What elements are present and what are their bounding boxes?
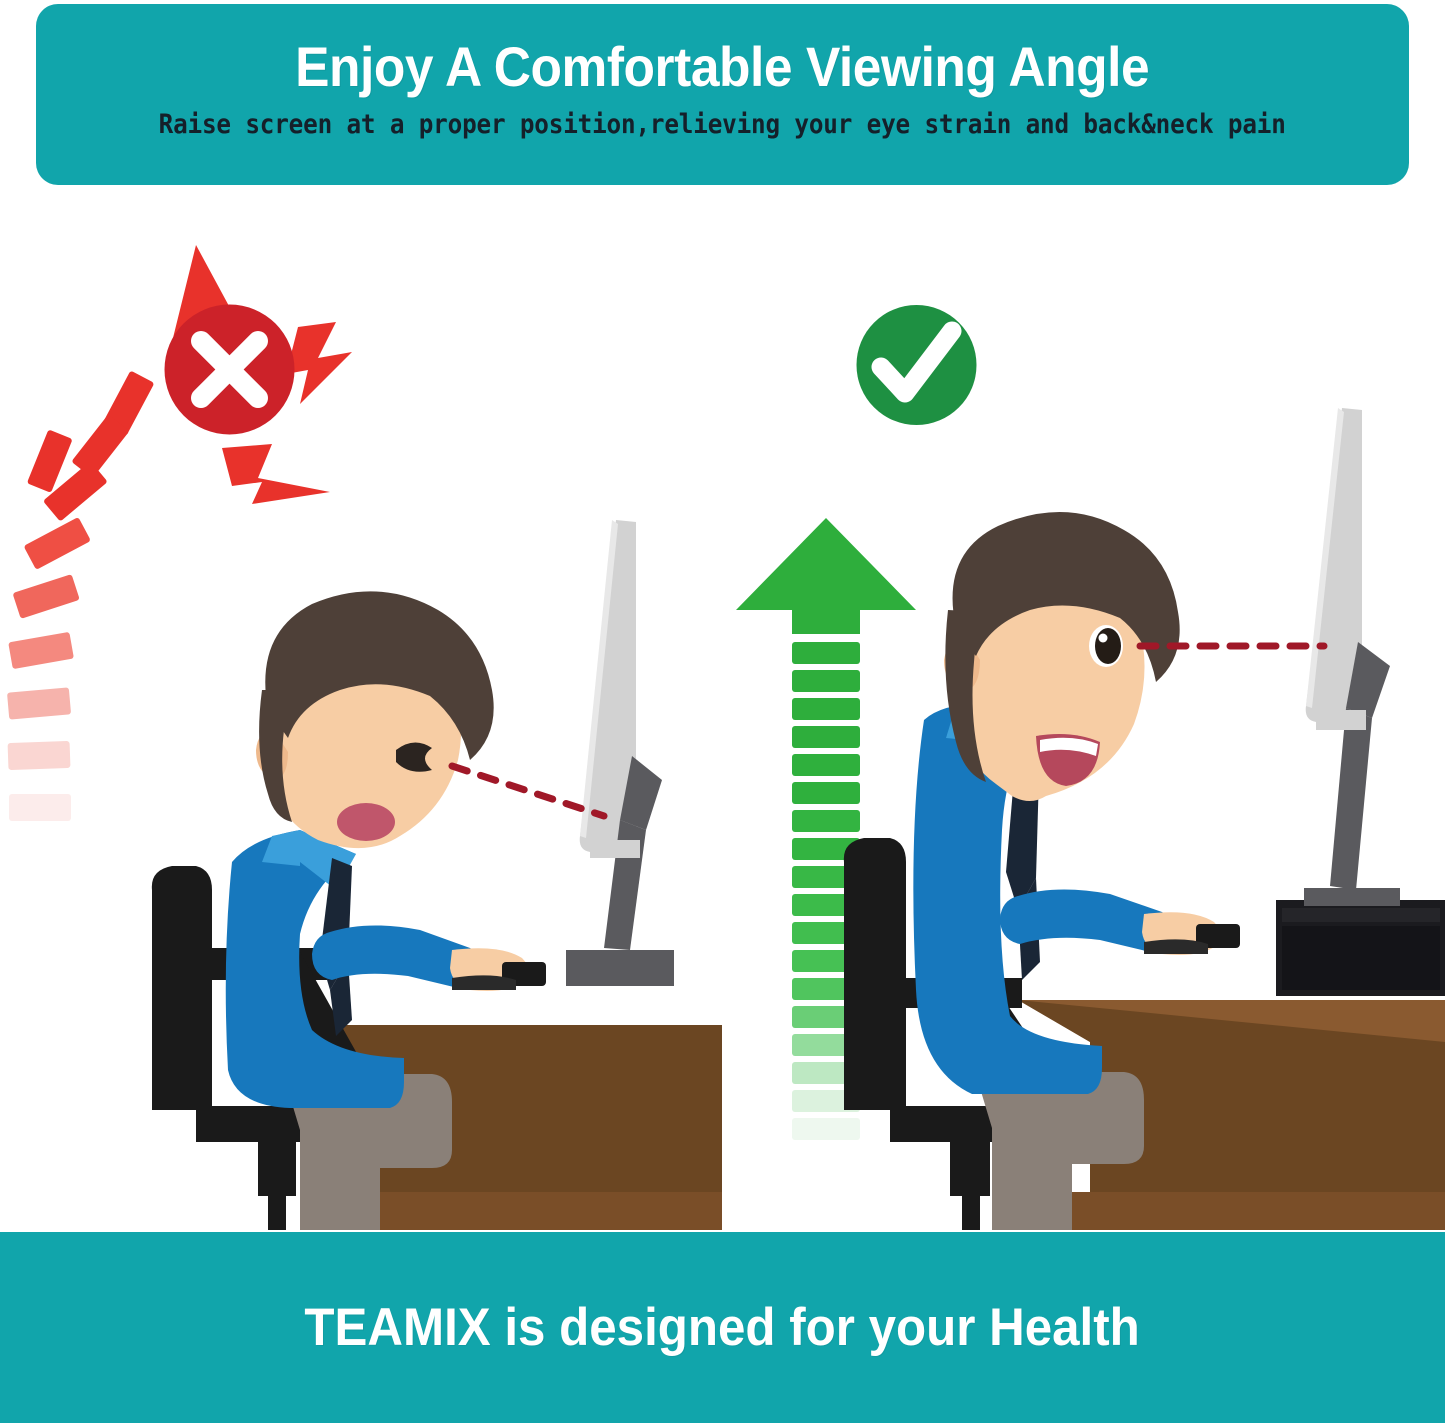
page-subtitle: Raise screen at a proper position,reliev… <box>159 109 1286 140</box>
head <box>944 512 1180 801</box>
sight-line <box>452 766 604 816</box>
footer-banner: TEAMIX is designed for your Health <box>0 1232 1445 1423</box>
cross-badge-icon <box>163 303 296 436</box>
header-banner: Enjoy A Comfortable Viewing Angle Raise … <box>36 4 1409 185</box>
monitor <box>1304 408 1400 906</box>
illustration-stage <box>0 190 1445 1230</box>
footer-text: TEAMIX is designed for your Health <box>305 1297 1140 1358</box>
page-title: Enjoy A Comfortable Viewing Angle <box>295 38 1149 95</box>
scene-bad-posture <box>0 190 722 1230</box>
monitor <box>566 520 674 986</box>
check-badge-icon <box>855 303 978 428</box>
monitor-riser <box>1276 900 1445 996</box>
head <box>256 591 494 848</box>
scene-good-posture <box>700 190 1422 1230</box>
